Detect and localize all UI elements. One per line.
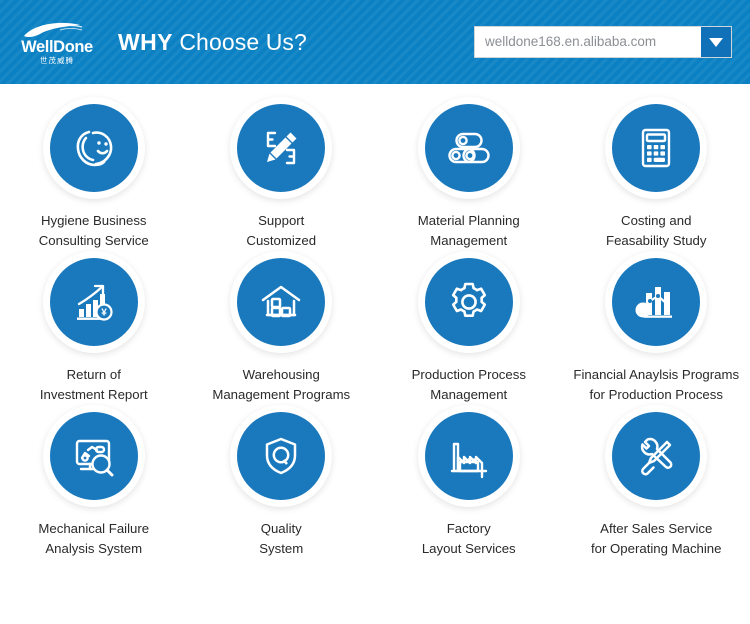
service-item-label: Hygiene Business Consulting Service: [39, 211, 149, 252]
wrench-screwdriver-icon: [612, 412, 700, 500]
pencil-ruler-icon: [237, 104, 325, 192]
chevron-down-glyph: [709, 38, 723, 47]
service-item-label: Return of Investment Report: [40, 365, 148, 406]
page-title-light: Choose Us?: [173, 29, 307, 55]
address-bar[interactable]: welldone168.en.alibaba.com: [474, 26, 732, 58]
service-item-label: Quality System: [259, 519, 303, 560]
service-item-hygiene-consulting[interactable]: Hygiene Business Consulting Service: [0, 98, 188, 252]
service-item-label: Factory Layout Services: [422, 519, 516, 560]
service-item-mechanical-failure[interactable]: Mechanical Failure Analysis System: [0, 406, 188, 560]
service-item-label: Support Customized: [246, 211, 316, 252]
service-item-label: Costing and Feasability Study: [606, 211, 706, 252]
service-item-material-planning[interactable]: Material Planning Management: [375, 98, 563, 252]
service-item-costing-feasability[interactable]: Costing and Feasability Study: [563, 98, 750, 252]
svg-text:¥: ¥: [101, 308, 107, 319]
address-input[interactable]: welldone168.en.alibaba.com: [475, 35, 701, 49]
services-row: Hygiene Business Consulting Service: [0, 98, 750, 252]
brand-logo: WellDone 世茂威腾: [18, 22, 96, 64]
service-item-return-investment[interactable]: ¥ Return of Investment Report: [0, 252, 188, 406]
services-grid: Hygiene Business Consulting Service: [0, 84, 750, 560]
service-item-support-customized[interactable]: Support Customized: [188, 98, 376, 252]
gear-icon: [425, 258, 513, 346]
machine-monitor-search-icon: [50, 412, 138, 500]
service-item-factory-layout[interactable]: Factory Layout Services: [375, 406, 563, 560]
why-choose-us-page: WellDone 世茂威腾 WHY Choose Us? welldone168…: [0, 0, 750, 624]
service-item-financial-analysis[interactable]: Financial Anaylsis Programs for Producti…: [563, 252, 750, 406]
growth-chart-yuan-icon: ¥: [50, 258, 138, 346]
service-item-after-sales-service[interactable]: After Sales Service for Operating Machin…: [563, 406, 750, 560]
page-title-strong: WHY: [118, 29, 173, 55]
shield-quality-icon: [237, 412, 325, 500]
factory-icon: [425, 412, 513, 500]
service-item-label: Warehousing Management Programs: [212, 365, 350, 406]
services-row: Mechanical Failure Analysis System Quali…: [0, 406, 750, 560]
logo-subtext: 世茂威腾: [40, 57, 74, 65]
page-header: WellDone 世茂威腾 WHY Choose Us? welldone168…: [0, 0, 750, 84]
warehouse-boxes-icon: [237, 258, 325, 346]
service-item-production-process[interactable]: Production Process Management: [375, 252, 563, 406]
service-item-label: Material Planning Management: [418, 211, 520, 252]
service-item-label: Mechanical Failure Analysis System: [38, 519, 149, 560]
service-item-label: Financial Anaylsis Programs for Producti…: [573, 365, 739, 406]
services-row: ¥ Return of Investment Report: [0, 252, 750, 406]
calculator-icon: [612, 104, 700, 192]
service-item-quality-system[interactable]: Quality System: [188, 406, 376, 560]
chevron-down-icon[interactable]: [701, 27, 731, 57]
swoosh-icon: [20, 22, 94, 42]
phone-smiley-icon: [50, 104, 138, 192]
page-title: WHY Choose Us?: [118, 31, 307, 54]
service-item-label: Production Process Management: [412, 365, 526, 406]
material-rolls-icon: [425, 104, 513, 192]
service-item-warehousing[interactable]: Warehousing Management Programs: [188, 252, 376, 406]
financial-analysis-chart-icon: [612, 258, 700, 346]
service-item-label: After Sales Service for Operating Machin…: [591, 519, 721, 560]
